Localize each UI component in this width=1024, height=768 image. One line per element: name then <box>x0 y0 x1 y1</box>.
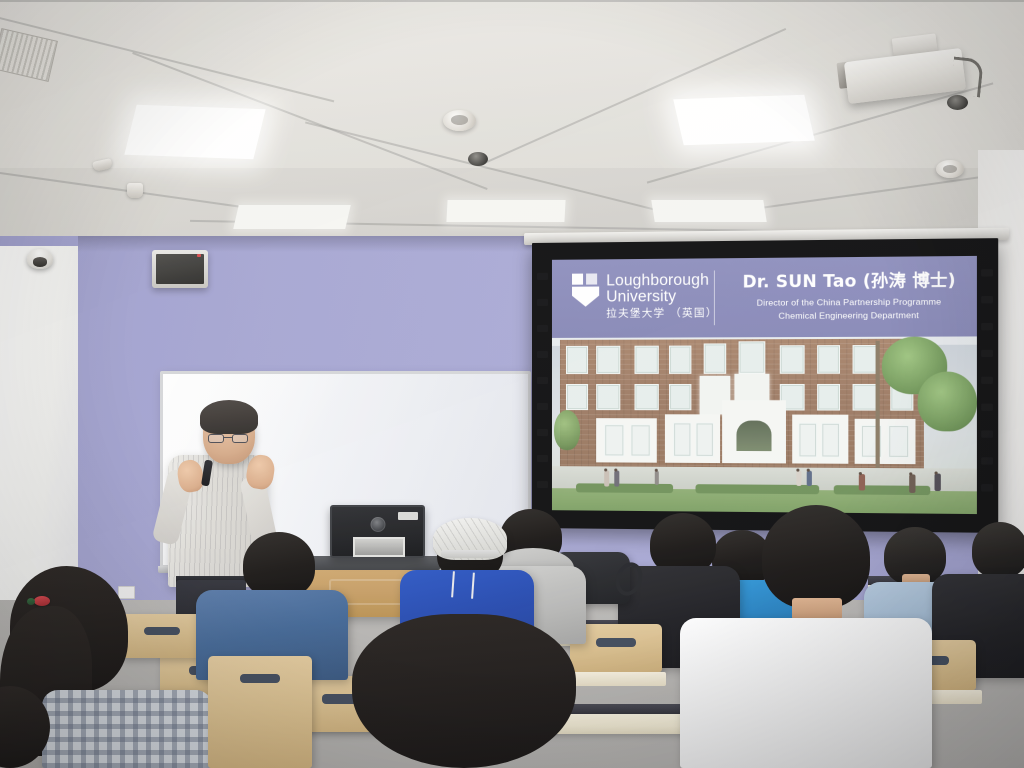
student-neck <box>792 598 842 620</box>
ceiling <box>0 0 1024 252</box>
left-white-wall <box>0 246 78 606</box>
campus-building <box>560 339 924 483</box>
ceiling-panel-light <box>651 200 766 222</box>
motion-sensor-icon <box>468 152 488 166</box>
student-dark-hair <box>352 614 576 768</box>
laptop-screen-reflection <box>353 537 405 557</box>
presenter-department: Chemical Engineering Department <box>730 310 968 321</box>
speaker-led-icon <box>197 254 201 257</box>
air-vent <box>0 28 58 82</box>
laptop-logo-icon <box>370 517 385 532</box>
slide-header: Loughborough University 拉夫堡大学 （英国） Dr. S… <box>552 256 977 338</box>
header-divider <box>714 270 715 325</box>
baseball-cap <box>433 518 507 560</box>
speaker-grille <box>156 254 204 284</box>
chair[interactable] <box>208 656 312 768</box>
logo-line-1: Loughborough <box>606 272 718 289</box>
student-head <box>972 522 1024 578</box>
sprinkler-head-icon <box>127 183 143 198</box>
logo-chinese-name: 拉夫堡大学 （英国） <box>606 308 718 319</box>
student-checkered-shirt <box>42 690 212 768</box>
wall-socket-plate <box>118 586 135 599</box>
ceiling-panel-light <box>673 95 815 146</box>
university-logo-text: Loughborough University 拉夫堡大学 （英国） <box>606 272 718 318</box>
ceiling-panel-light <box>233 205 351 229</box>
student-head <box>762 505 870 609</box>
student-head <box>243 532 315 598</box>
presentation-laptop[interactable] <box>330 505 425 558</box>
presenter-role: Director of the China Partnership Progra… <box>730 296 968 308</box>
ceiling-panel-light <box>446 200 565 222</box>
podium-top-surface <box>298 556 440 570</box>
presenter-name: Dr. SUN Tao (孙涛 博士) <box>730 266 968 292</box>
presentation-slide: Loughborough University 拉夫堡大学 （英国） Dr. S… <box>552 256 977 514</box>
slide-canvas: Loughborough University 拉夫堡大学 （英国） Dr. S… <box>552 256 977 514</box>
cap-strap <box>441 550 499 558</box>
university-logo: Loughborough University 拉夫堡大学 （英国） <box>572 272 718 319</box>
lecture-hall-photo: Loughborough University 拉夫堡大学 （英国） Dr. S… <box>0 0 1024 768</box>
hair-tie-accent <box>27 598 35 605</box>
hair-tie <box>34 596 50 606</box>
ceiling-panel-light <box>124 105 265 160</box>
laptop-sticker <box>398 512 418 520</box>
smoke-detector-icon <box>443 110 476 131</box>
smoke-detector-icon <box>936 160 964 178</box>
presenter-hair <box>200 400 258 434</box>
student-white-shirt <box>680 618 932 768</box>
logo-line-2: University <box>606 288 718 305</box>
chair-seat <box>574 672 666 686</box>
motion-sensor-icon <box>947 95 968 110</box>
chair[interactable] <box>120 614 204 658</box>
projection-screen: Loughborough University 拉夫堡大学 （英国） Dr. S… <box>532 238 998 533</box>
presenter-glasses-icon <box>208 434 250 443</box>
loughborough-shield-crest-icon <box>572 273 599 306</box>
wall-speaker <box>152 250 208 288</box>
dome-camera-icon <box>27 249 53 269</box>
lanyard <box>451 571 475 598</box>
presenter-credentials: Dr. SUN Tao (孙涛 博士) Director of the Chin… <box>730 266 968 321</box>
campus-building-photo <box>552 336 977 514</box>
projector-cable <box>950 57 984 98</box>
